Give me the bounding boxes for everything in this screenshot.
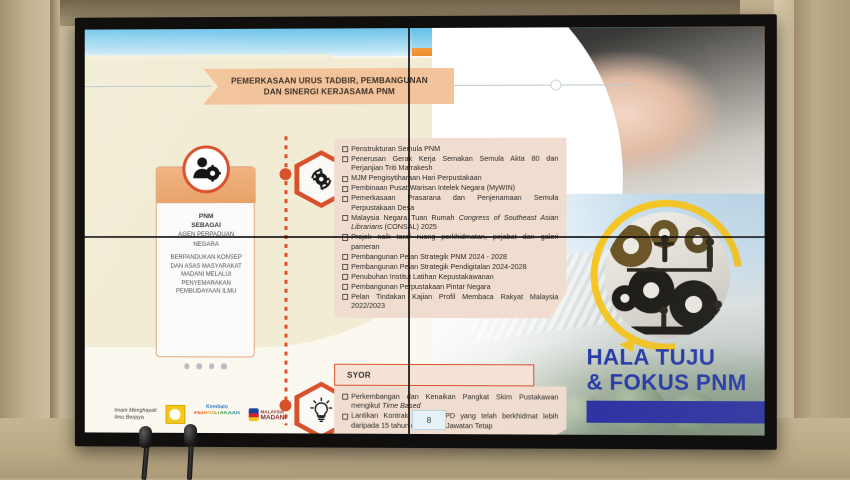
dot[interactable] bbox=[184, 363, 189, 368]
logo-row: Imam Menghayati Ilmu Berjaya Kembalo PER… bbox=[114, 402, 312, 425]
pnm-role-card: PNM SEBAGAI AGEN PERPADUAN NEGARA BERPAN… bbox=[156, 166, 255, 357]
signature-line-1: Imam Menghayati bbox=[114, 408, 156, 414]
list-item: Pemerkasaan Prasarana dan Penjenamaan Se… bbox=[342, 193, 558, 212]
gears-teamwork-graphic bbox=[591, 200, 743, 351]
video-wall-bezel: PEMERKASAAN URUS TADBIR, PEMBANGUNAN DAN… bbox=[75, 14, 777, 450]
mic-head bbox=[184, 424, 197, 446]
malaysia-madani-logo: MALAYSIA MADANI bbox=[249, 405, 286, 424]
syor-label: SYOR bbox=[347, 370, 371, 379]
banner-endpoint-dot bbox=[550, 80, 561, 91]
dot[interactable] bbox=[196, 363, 201, 368]
main-content-box: Penstrukturan Semula PNM Penerusan Gerak… bbox=[334, 138, 566, 319]
mic-head bbox=[139, 426, 152, 448]
panel-seam-horizontal bbox=[85, 236, 765, 238]
wall-right-panel bbox=[794, 0, 850, 478]
timeline-node-1 bbox=[280, 168, 292, 180]
banner-text: PEMERKASAAN URUS TADBIR, PEMBANGUNAN DAN… bbox=[217, 75, 438, 98]
gear-cycle-glyph bbox=[307, 165, 335, 193]
madani-text: MALAYSIA MADANI bbox=[261, 409, 286, 421]
perpustakaan-logo: Kembalo PERPUSTAKAAN bbox=[194, 405, 240, 424]
syor-bullet-list: Perkembangan dan Kenaikan Pangkat Skim P… bbox=[342, 392, 558, 431]
list-item: MJM Pengisytiharaan Hari Perpustakaan bbox=[342, 173, 558, 183]
list-item: Pembinaan Pusat Warisan Intelek Negara (… bbox=[342, 183, 558, 193]
page-number: 8 bbox=[412, 410, 446, 430]
conference-room: PEMERKASAAN URUS TADBIR, PEMBANGUNAN DAN… bbox=[0, 0, 850, 478]
wall-right-strip bbox=[774, 0, 794, 478]
banner-line-2: DAN SINERGI KERJASAMA PNM bbox=[231, 86, 428, 98]
wall-left-corner bbox=[50, 0, 60, 478]
card-body-text: BERPANDUKAN KONSEP DAN ASAS MASYARAKAT M… bbox=[164, 254, 249, 297]
card-heading-2: SEBAGAI bbox=[164, 222, 249, 231]
badge-circle bbox=[170, 409, 181, 420]
card-body: PNM SEBAGAI AGEN PERPADUAN NEGARA BERPAN… bbox=[157, 207, 256, 303]
yellow-badge-mark bbox=[165, 405, 185, 424]
list-item: Lantikan Kontrak Petugas PD yang telah b… bbox=[342, 411, 558, 431]
presentation-slide: PEMERKASAAN URUS TADBIR, PEMBANGUNAN DAN… bbox=[85, 26, 765, 435]
slide-right-title: HALA TUJU & FOKUS PNM bbox=[587, 344, 765, 395]
main-bullet-list: Penstrukturan Semula PNM Penerusan Gerak… bbox=[342, 144, 558, 311]
video-wall-screen[interactable]: PEMERKASAAN URUS TADBIR, PEMBANGUNAN DAN… bbox=[85, 26, 765, 435]
dot[interactable] bbox=[209, 363, 214, 368]
list-item: Perkembangan dan Kenaikan Pangkat Skim P… bbox=[342, 392, 558, 412]
list-item: Pembangunan Pelan Strategik PNM 2024 - 2… bbox=[342, 252, 558, 262]
signature-line-2: Ilmu Berjaya bbox=[114, 414, 156, 420]
madani-line-2: MADANI bbox=[261, 415, 286, 421]
dot[interactable] bbox=[221, 363, 226, 368]
right-title-line-2: & FOKUS PNM bbox=[587, 370, 765, 396]
signature-logo: Imam Menghayati Ilmu Berjaya bbox=[114, 405, 156, 424]
card-pagination-dots[interactable] bbox=[156, 363, 255, 369]
perpustakaan-line-2: PERPUSTAKAAN bbox=[194, 411, 240, 417]
list-item: Pembangunan Perpustakaan Pintar Negara bbox=[342, 282, 558, 292]
banner-line-1: PEMERKASAAN URUS TADBIR, PEMBANGUNAN bbox=[231, 75, 428, 87]
list-item: Penstrukturan Semula PNM bbox=[342, 144, 558, 154]
title-accent-bar bbox=[587, 401, 765, 424]
list-item: Malaysia Negara Tuan Rumah Congress of S… bbox=[342, 213, 558, 232]
list-item: Pelan Tindakan Kajian Profil Membaca Rak… bbox=[342, 292, 558, 311]
syor-header: SYOR bbox=[334, 364, 534, 387]
list-item: Penerusan Gerak Kerja Semakan Semula Akt… bbox=[342, 154, 558, 173]
person-gear-glyph bbox=[191, 154, 221, 184]
list-item: Penubuhan Institut Latihan Kepustakawana… bbox=[342, 272, 558, 282]
card-heading-1: PNM bbox=[164, 213, 249, 222]
panel-seam-vertical bbox=[408, 28, 410, 434]
list-item: Pembangunan Pelan Strategik Pendigitalan… bbox=[342, 262, 558, 272]
yellow-badge-logo bbox=[165, 405, 185, 424]
slide-banner: PEMERKASAAN URUS TADBIR, PEMBANGUNAN DAN… bbox=[203, 68, 452, 105]
syor-content-box: Perkembangan dan Kenaikan Pangkat Skim P… bbox=[334, 386, 566, 436]
card-heading-4: NEGARA bbox=[164, 241, 249, 249]
person-gear-icon bbox=[182, 145, 230, 193]
madani-mark bbox=[249, 408, 259, 421]
right-title-line-1: HALA TUJU bbox=[587, 344, 765, 370]
